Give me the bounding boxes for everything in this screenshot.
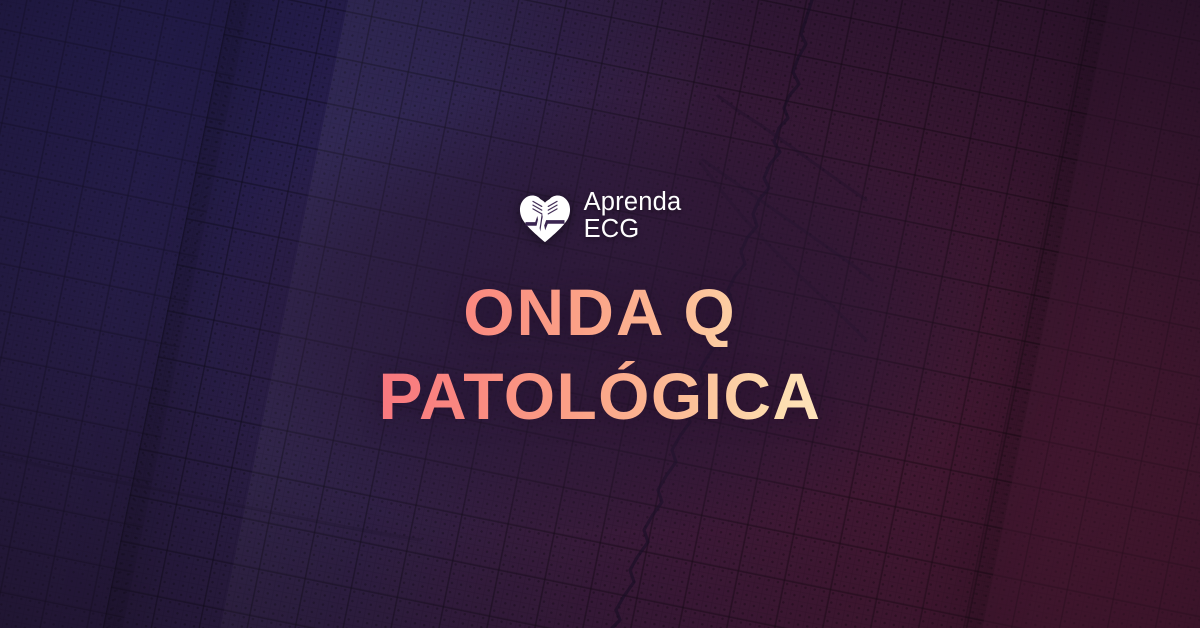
banner-content: Aprenda ECG ONDA Q PATOLÓGICA <box>0 0 1200 628</box>
page-title-line-2: PATOLÓGICA <box>379 361 822 431</box>
heart-book-ecg-icon <box>519 189 571 243</box>
brand-logo-lockup: Aprenda ECG <box>519 189 682 243</box>
brand-wordmark: Aprenda ECG <box>584 189 682 242</box>
brand-name-line-1: Aprenda <box>584 189 682 216</box>
ecg-article-banner: Aprenda ECG ONDA Q PATOLÓGICA <box>0 0 1200 628</box>
page-title-line-1: ONDA Q <box>379 277 822 347</box>
page-title: ONDA Q PATOLÓGICA <box>379 277 822 431</box>
brand-name-line-2: ECG <box>584 216 682 243</box>
